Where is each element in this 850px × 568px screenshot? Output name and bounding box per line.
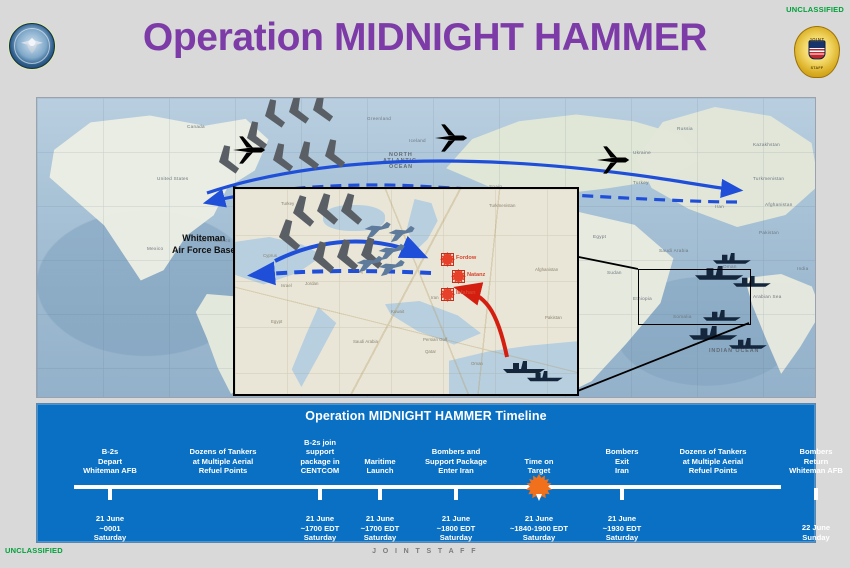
naval-ship-silhouette xyxy=(503,361,545,373)
joint-staff-seal-bottom-text: STAFF xyxy=(795,66,839,70)
timeline-event-date-join-package: 21 June~1700 EDTSaturday xyxy=(301,514,340,543)
timeline-event-date-enter-iran: 21 June~1800 EDTSaturday xyxy=(437,514,476,543)
timeline-axis xyxy=(74,485,781,489)
target-label: Natanz xyxy=(467,272,485,278)
target-box-icon xyxy=(441,253,454,266)
timeline-event-date-time-on-target: 21 June~1840-1900 EDTSaturday xyxy=(510,514,568,543)
timeline-event-label-exit-iran: BombersExitIran xyxy=(606,447,639,476)
joint-staff-footer: J O I N T S T A F F xyxy=(0,548,850,555)
naval-ship-group-inset xyxy=(503,361,563,381)
timeline-tick-depart xyxy=(108,488,112,500)
timeline-tick-maritime-launch xyxy=(378,488,382,500)
target-marker-fordow: Fordow xyxy=(440,252,455,267)
timeline-event-date-maritime-launch: 21 June~1700 EDTSaturday xyxy=(361,514,400,543)
timeline-event-label-maritime-launch: MaritimeLaunch xyxy=(364,457,395,476)
callout-connector-bottom xyxy=(575,323,749,392)
timeline-event-label-enter-iran: Bombers andSupport PackageEnter Iran xyxy=(425,447,487,476)
timeline-event-date-return-base: 22 JuneSunday xyxy=(802,523,830,542)
target-box-icon xyxy=(441,288,454,301)
target-label: Isfahan xyxy=(456,290,476,296)
inset-map-middle-east: TurkeySyriaIraqIranSaudi ArabiaJordanIsr… xyxy=(233,187,579,396)
fighter-jet-silhouette xyxy=(364,221,392,238)
target-label: Fordow xyxy=(456,255,476,261)
timeline-tick-join-package xyxy=(318,488,322,500)
timeline-event-label-tankers-return: Dozens of Tankersat Multiple AerialRefue… xyxy=(680,447,747,476)
timeline-burst-time-on-target xyxy=(526,474,552,500)
briefing-slide: UNCLASSIFIED UNCLASSIFIED J O I N T S T … xyxy=(0,0,850,568)
timeline-tick-enter-iran xyxy=(454,488,458,500)
classification-marking-top: UNCLASSIFIED xyxy=(786,5,844,14)
timeline-event-label-return-base: BombersReturnWhiteman AFB xyxy=(789,447,843,476)
burst-pointer-icon xyxy=(536,494,542,501)
timeline-panel: Operation MIDNIGHT HAMMER Timeline B-2sD… xyxy=(36,403,816,543)
b2-bomber-silhouette xyxy=(288,194,315,231)
page-title: Operation MIDNIGHT HAMMER xyxy=(0,18,850,57)
timeline-event-label-join-package: B-2s joinsupportpackage inCENTCOM xyxy=(300,438,339,476)
timeline-tick-return-base xyxy=(814,488,818,500)
timeline-event-date-exit-iran: 21 June~1930 EDTSaturday xyxy=(603,514,642,543)
target-box-icon xyxy=(452,270,465,283)
target-marker-isfahan: Isfahan xyxy=(440,287,455,302)
operation-map: NORTHATLANTICOCEANINDIAN OCEANSOUTHATLAN… xyxy=(36,97,816,398)
inset-asset-layer xyxy=(235,189,577,394)
timeline-event-label-depart: B-2sDepartWhiteman AFB xyxy=(83,447,137,476)
timeline-event-date-depart: 21 June~0001Saturday xyxy=(94,514,127,543)
timeline-tick-exit-iran xyxy=(620,488,624,500)
timeline-title: Operation MIDNIGHT HAMMER Timeline xyxy=(37,409,815,423)
target-marker-natanz: Natanz xyxy=(451,269,466,284)
timeline-event-label-tankers-outbound: Dozens of Tankersat Multiple AerialRefue… xyxy=(190,447,257,476)
